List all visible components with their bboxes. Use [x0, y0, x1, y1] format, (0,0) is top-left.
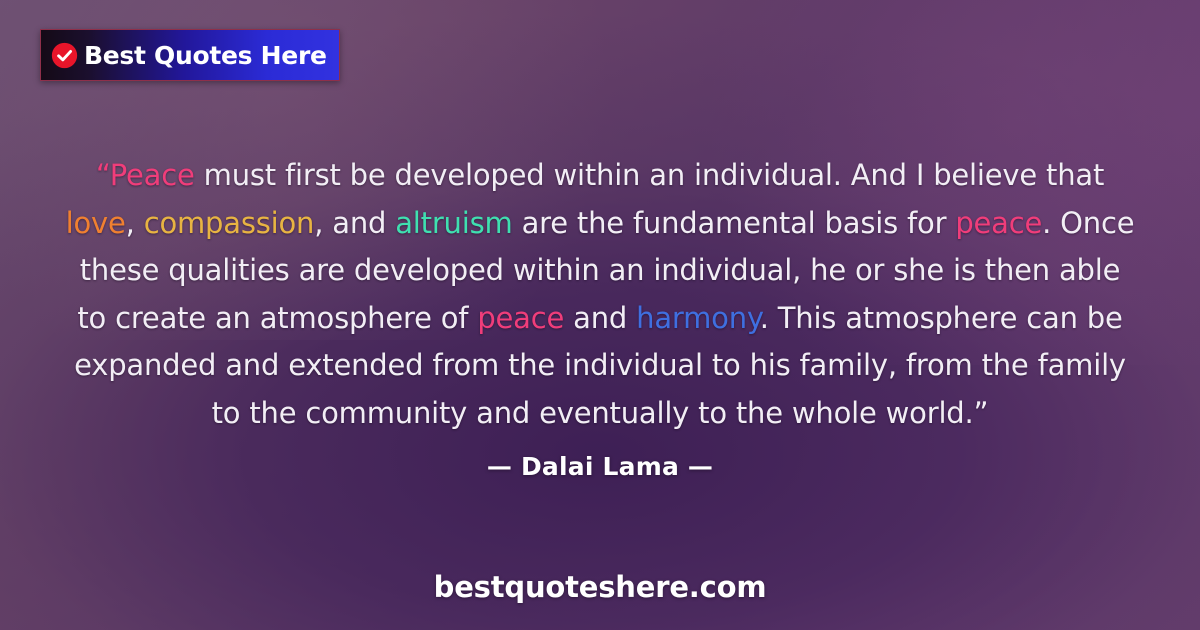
quote-segment-plain-6: and [564, 301, 636, 335]
quote-segment-plain-4: are the fundamental basis for [513, 206, 956, 240]
logo-label: Best Quotes Here [84, 43, 327, 68]
quote-segment-harmony: harmony [636, 301, 760, 335]
quote-text: “Peace must first be developed within an… [0, 152, 1200, 437]
quote-segment-compassion: compassion [144, 206, 315, 240]
quote-segment-open-quote: “ [96, 158, 110, 192]
logo-badge[interactable]: Best Quotes Here [40, 29, 340, 81]
quote-segment-peace-2: peace [955, 206, 1042, 240]
quote-segment-plain-3: , and [314, 206, 395, 240]
quote-segment-plain-1: must first be developed within an indivi… [195, 158, 1105, 192]
quote-segment-plain-2: , [126, 206, 144, 240]
quote-segment-love: love [66, 206, 126, 240]
check-circle-icon [51, 42, 78, 69]
quote-segment-peace-3: peace [477, 301, 564, 335]
quote-segment-peace-1: Peace [110, 158, 195, 192]
quote-block: “Peace must first be developed within an… [0, 152, 1200, 437]
quote-author: — Dalai Lama — [0, 452, 1200, 481]
quote-segment-altruism: altruism [395, 206, 512, 240]
site-url-footer: bestquoteshere.com [0, 570, 1200, 604]
quote-card: Best Quotes Here “Peace must first be de… [0, 0, 1200, 630]
